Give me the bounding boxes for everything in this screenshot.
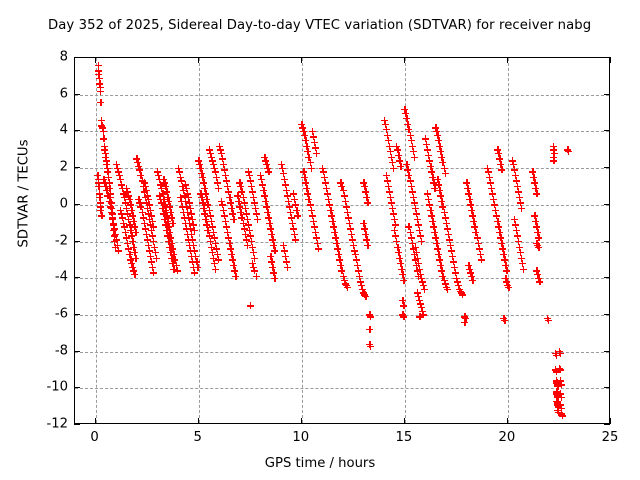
- data-point: [469, 277, 476, 284]
- y-tick-mark: [74, 130, 80, 131]
- data-point: [421, 286, 428, 293]
- data-point: [230, 216, 237, 223]
- data-point: [284, 264, 291, 271]
- y-tick-label: 0: [60, 196, 68, 211]
- data-point: [254, 216, 261, 223]
- data-point: [247, 302, 254, 309]
- data-point: [400, 302, 407, 309]
- data-point: [390, 165, 397, 172]
- data-point: [132, 229, 139, 236]
- data-point: [131, 271, 138, 278]
- y-tick-mark: [74, 204, 80, 205]
- data-point: [411, 154, 418, 161]
- data-point: [191, 227, 198, 234]
- data-point: [100, 135, 107, 142]
- data-point: [478, 256, 485, 263]
- data-point: [415, 273, 422, 280]
- x-tick-mark-top: [404, 57, 405, 63]
- y-tick-label: -2: [55, 233, 68, 248]
- data-point: [150, 269, 157, 276]
- data-point: [364, 199, 371, 206]
- data-point: [367, 343, 374, 350]
- data-point: [501, 317, 508, 324]
- data-point: [550, 157, 557, 164]
- data-point: [191, 269, 198, 276]
- data-point: [253, 273, 260, 280]
- x-tick-label: 10: [292, 430, 309, 445]
- data-point: [459, 291, 466, 298]
- data-point: [364, 242, 371, 249]
- data-point: [215, 185, 222, 192]
- data-point: [344, 284, 351, 291]
- y-tick-mark-right: [604, 387, 610, 388]
- x-tick-mark-top: [301, 57, 302, 63]
- x-tick-mark: [404, 418, 405, 424]
- data-point: [232, 273, 239, 280]
- y-tick-label: 2: [60, 160, 68, 175]
- data-point: [533, 190, 540, 197]
- data-point: [442, 170, 449, 177]
- data-point: [271, 275, 278, 282]
- x-tick-mark: [610, 418, 611, 424]
- y-tick-mark: [74, 387, 80, 388]
- y-tick-mark-right: [604, 277, 610, 278]
- x-tick-mark: [198, 418, 199, 424]
- y-tick-label: -6: [55, 306, 68, 321]
- data-point: [308, 165, 315, 172]
- data-point: [97, 88, 104, 95]
- y-tick-mark: [74, 424, 80, 425]
- y-tick-mark: [74, 241, 80, 242]
- x-axis-label: GPS time / hours: [0, 456, 640, 471]
- data-point: [505, 284, 512, 291]
- data-point: [520, 266, 527, 273]
- data-point: [170, 266, 177, 273]
- y-tick-mark: [74, 94, 80, 95]
- y-tick-mark: [74, 167, 80, 168]
- x-tick-mark: [507, 418, 508, 424]
- y-tick-label: 6: [60, 86, 68, 101]
- y-tick-mark-right: [604, 314, 610, 315]
- plot-area: [74, 57, 610, 424]
- x-tick-label: 0: [90, 430, 98, 445]
- data-point: [366, 326, 373, 333]
- data-point: [100, 128, 107, 135]
- data-point: [558, 381, 565, 388]
- data-point: [362, 293, 369, 300]
- data-point: [536, 278, 543, 285]
- data-point: [292, 236, 299, 243]
- data-point: [559, 412, 566, 419]
- data-point: [400, 313, 407, 320]
- data-point: [518, 205, 525, 212]
- y-tick-mark: [74, 57, 80, 58]
- y-tick-mark: [74, 277, 80, 278]
- data-point: [265, 168, 272, 175]
- data-point: [115, 247, 122, 254]
- y-tick-mark-right: [604, 130, 610, 131]
- y-tick-mark-right: [604, 241, 610, 242]
- data-point: [503, 267, 510, 274]
- x-tick-label: 20: [499, 430, 516, 445]
- x-tick-mark-top: [198, 57, 199, 63]
- data-point: [557, 366, 564, 373]
- data-point: [169, 220, 176, 227]
- y-tick-label: -4: [55, 270, 68, 285]
- data-point: [400, 277, 407, 284]
- y-tick-mark-right: [604, 204, 610, 205]
- data-point: [150, 223, 157, 230]
- y-tick-mark-right: [604, 167, 610, 168]
- data-point: [461, 319, 468, 326]
- x-tick-label: 15: [395, 430, 412, 445]
- data-point: [212, 266, 219, 273]
- y-tick-mark: [74, 314, 80, 315]
- y-axis-label: SDTVAR / TECUs: [17, 84, 32, 304]
- y-tick-mark-right: [604, 424, 610, 425]
- y-tick-mark-right: [604, 351, 610, 352]
- chart-container: Day 352 of 2025, Sidereal Day-to-day VTE…: [0, 0, 640, 480]
- data-point: [557, 350, 564, 357]
- y-tick-mark: [74, 351, 80, 352]
- y-tick-label: 8: [60, 50, 68, 65]
- scatter-data-layer: [75, 58, 609, 423]
- data-point: [565, 148, 572, 155]
- x-tick-label: 25: [602, 430, 619, 445]
- y-tick-label: -8: [55, 343, 68, 358]
- data-point: [545, 317, 552, 324]
- data-point: [97, 99, 104, 106]
- x-tick-mark-top: [95, 57, 96, 63]
- x-tick-mark: [95, 418, 96, 424]
- data-point: [444, 286, 451, 293]
- data-point: [315, 245, 322, 252]
- chart-title: Day 352 of 2025, Sidereal Day-to-day VTE…: [48, 18, 591, 33]
- data-point: [498, 166, 505, 173]
- data-point: [417, 313, 424, 320]
- y-tick-label: -12: [46, 417, 68, 432]
- x-tick-mark-top: [507, 57, 508, 63]
- y-tick-mark-right: [604, 94, 610, 95]
- x-tick-label: 5: [193, 430, 201, 445]
- data-point: [98, 212, 105, 219]
- data-point: [294, 212, 301, 219]
- data-point: [313, 150, 320, 157]
- y-tick-label: -10: [46, 380, 68, 395]
- y-tick-label: 4: [60, 123, 68, 138]
- data-point: [535, 244, 542, 251]
- x-tick-mark-top: [610, 57, 611, 63]
- x-tick-mark: [301, 418, 302, 424]
- data-point: [367, 313, 374, 320]
- data-point: [418, 238, 425, 245]
